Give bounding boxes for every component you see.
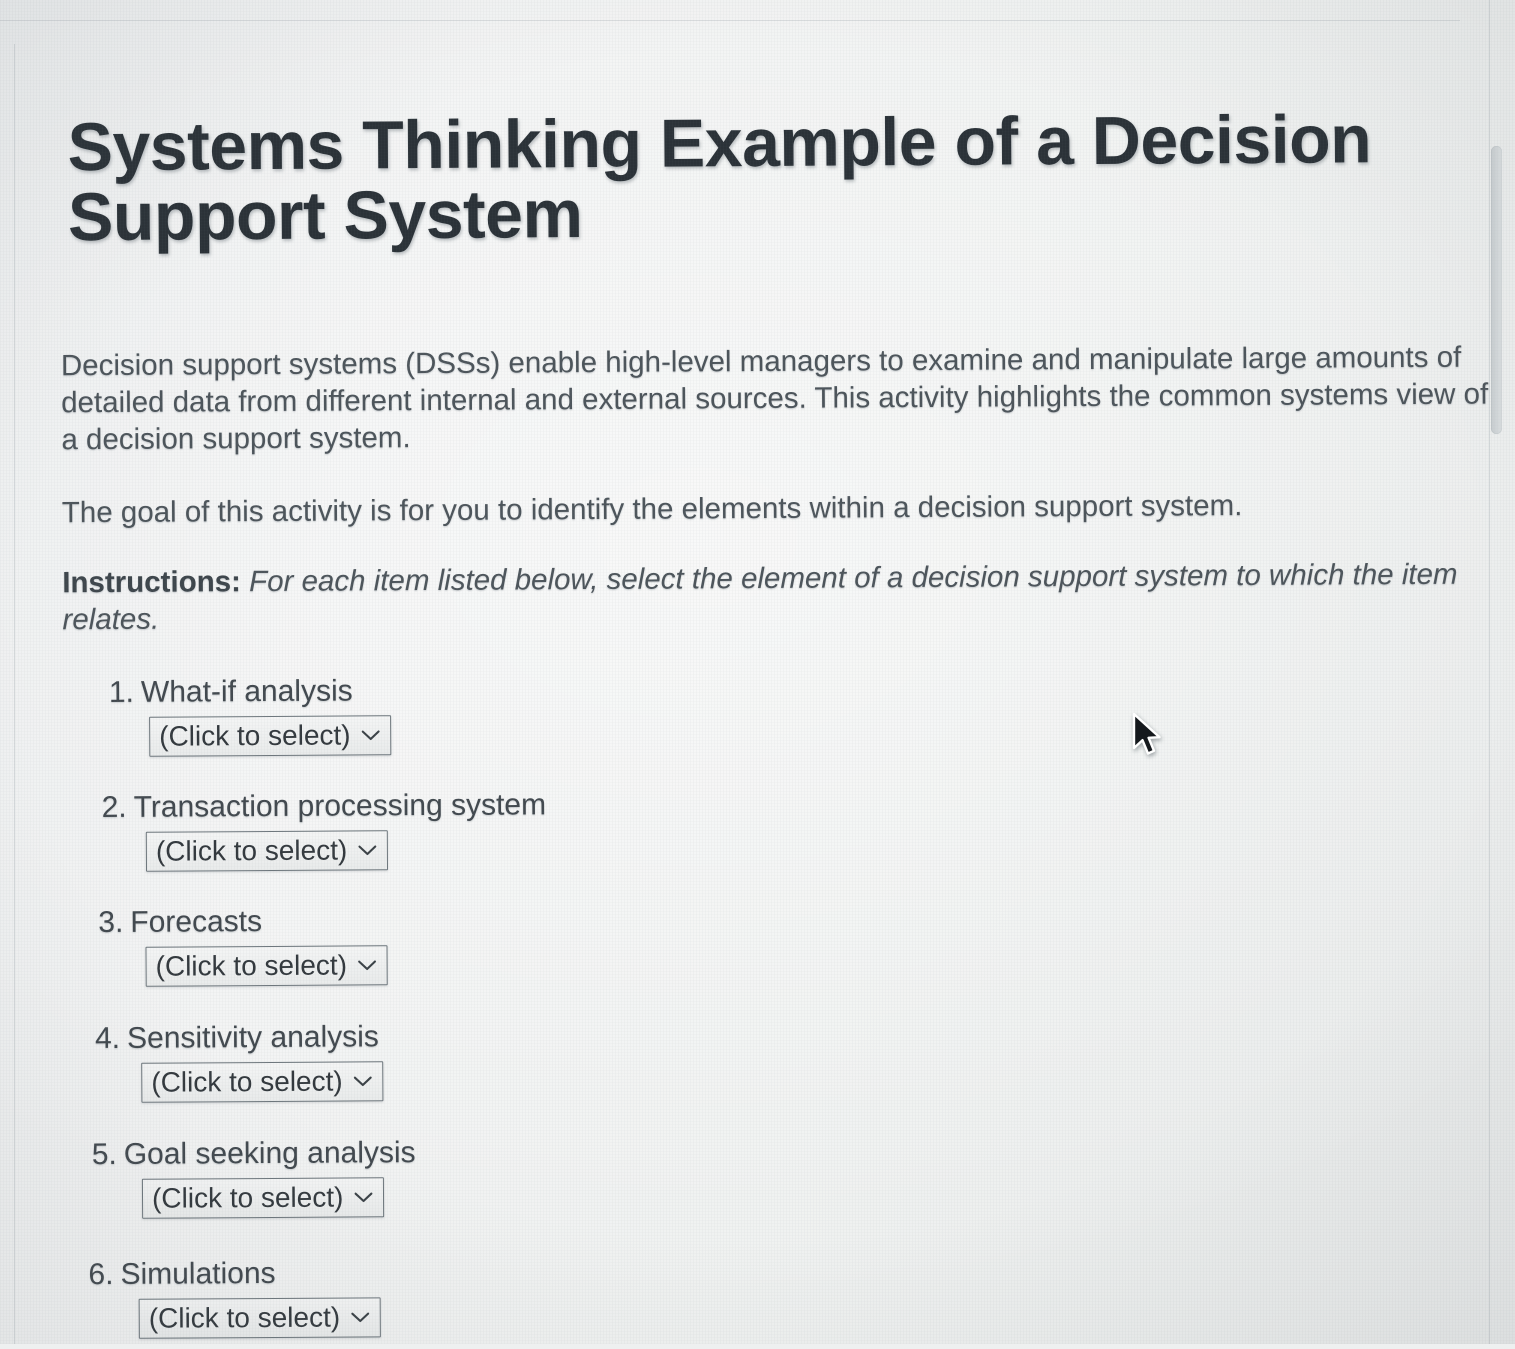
- list-item: 4.Sensitivity analysis (Click to select): [95, 1020, 384, 1103]
- instructions-paragraph: Instructions: For each item listed below…: [62, 555, 1502, 638]
- list-item: 3.Forecasts (Click to select): [98, 904, 388, 987]
- intro-paragraph: Decision support systems (DSSs) enable h…: [61, 338, 1502, 458]
- select-value: (Click to select): [152, 1184, 344, 1213]
- item-label-row: 6.Simulations: [88, 1256, 381, 1291]
- select-value: (Click to select): [149, 1304, 341, 1333]
- chevron-down-icon: [354, 1191, 373, 1203]
- select-dropdown-1[interactable]: (Click to select): [149, 715, 392, 756]
- list-item: 2.Transaction processing system (Click t…: [102, 788, 547, 872]
- item-number: 1.: [109, 676, 134, 709]
- item-number: 6.: [88, 1258, 113, 1291]
- item-label-row: 2.Transaction processing system: [102, 788, 547, 824]
- item-number: 2.: [102, 791, 127, 824]
- item-text: Forecasts: [130, 905, 262, 939]
- instructions-label: Instructions:: [62, 565, 241, 599]
- select-dropdown-4[interactable]: (Click to select): [141, 1061, 384, 1102]
- select-value: (Click to select): [159, 721, 351, 750]
- vertical-scrollbar[interactable]: [1496, 0, 1509, 1344]
- list-item: 5.Goal seeking analysis (Click to select…: [92, 1136, 416, 1219]
- select-dropdown-6[interactable]: (Click to select): [139, 1297, 382, 1338]
- chevron-down-icon: [351, 1311, 370, 1323]
- list-item: 1.What-if analysis (Click to select): [109, 674, 392, 757]
- select-value: (Click to select): [156, 952, 348, 981]
- chevron-down-icon: [362, 729, 381, 741]
- select-dropdown-3[interactable]: (Click to select): [145, 945, 388, 986]
- item-label-row: 1.What-if analysis: [109, 674, 392, 709]
- item-label-row: 3.Forecasts: [98, 904, 388, 939]
- chevron-down-icon: [358, 844, 377, 856]
- item-text: Transaction processing system: [134, 788, 547, 824]
- page-content: Systems Thinking Example of a Decision S…: [0, 0, 1515, 1349]
- chevron-down-icon: [358, 959, 377, 971]
- select-dropdown-5[interactable]: (Click to select): [142, 1177, 385, 1218]
- item-text: Sensitivity analysis: [127, 1020, 379, 1055]
- goal-paragraph: The goal of this activity is for you to …: [62, 485, 1502, 531]
- select-value: (Click to select): [151, 1068, 343, 1097]
- item-text: Goal seeking analysis: [124, 1136, 416, 1171]
- list-item: 6.Simulations (Click to select): [88, 1256, 381, 1339]
- select-dropdown-2[interactable]: (Click to select): [146, 830, 389, 871]
- item-number: 5.: [92, 1138, 117, 1171]
- instructions-text: For each item listed below, select the e…: [62, 557, 1457, 636]
- page-title: Systems Thinking Example of a Decision S…: [67, 103, 1468, 253]
- item-text: What-if analysis: [141, 674, 353, 708]
- item-label-row: 5.Goal seeking analysis: [92, 1136, 416, 1171]
- item-label-row: 4.Sensitivity analysis: [95, 1020, 384, 1055]
- item-number: 4.: [95, 1022, 120, 1055]
- scrollbar-thumb[interactable]: [1491, 146, 1502, 434]
- item-text: Simulations: [120, 1257, 275, 1291]
- item-number: 3.: [98, 906, 123, 939]
- select-value: (Click to select): [156, 837, 348, 866]
- chevron-down-icon: [354, 1075, 373, 1087]
